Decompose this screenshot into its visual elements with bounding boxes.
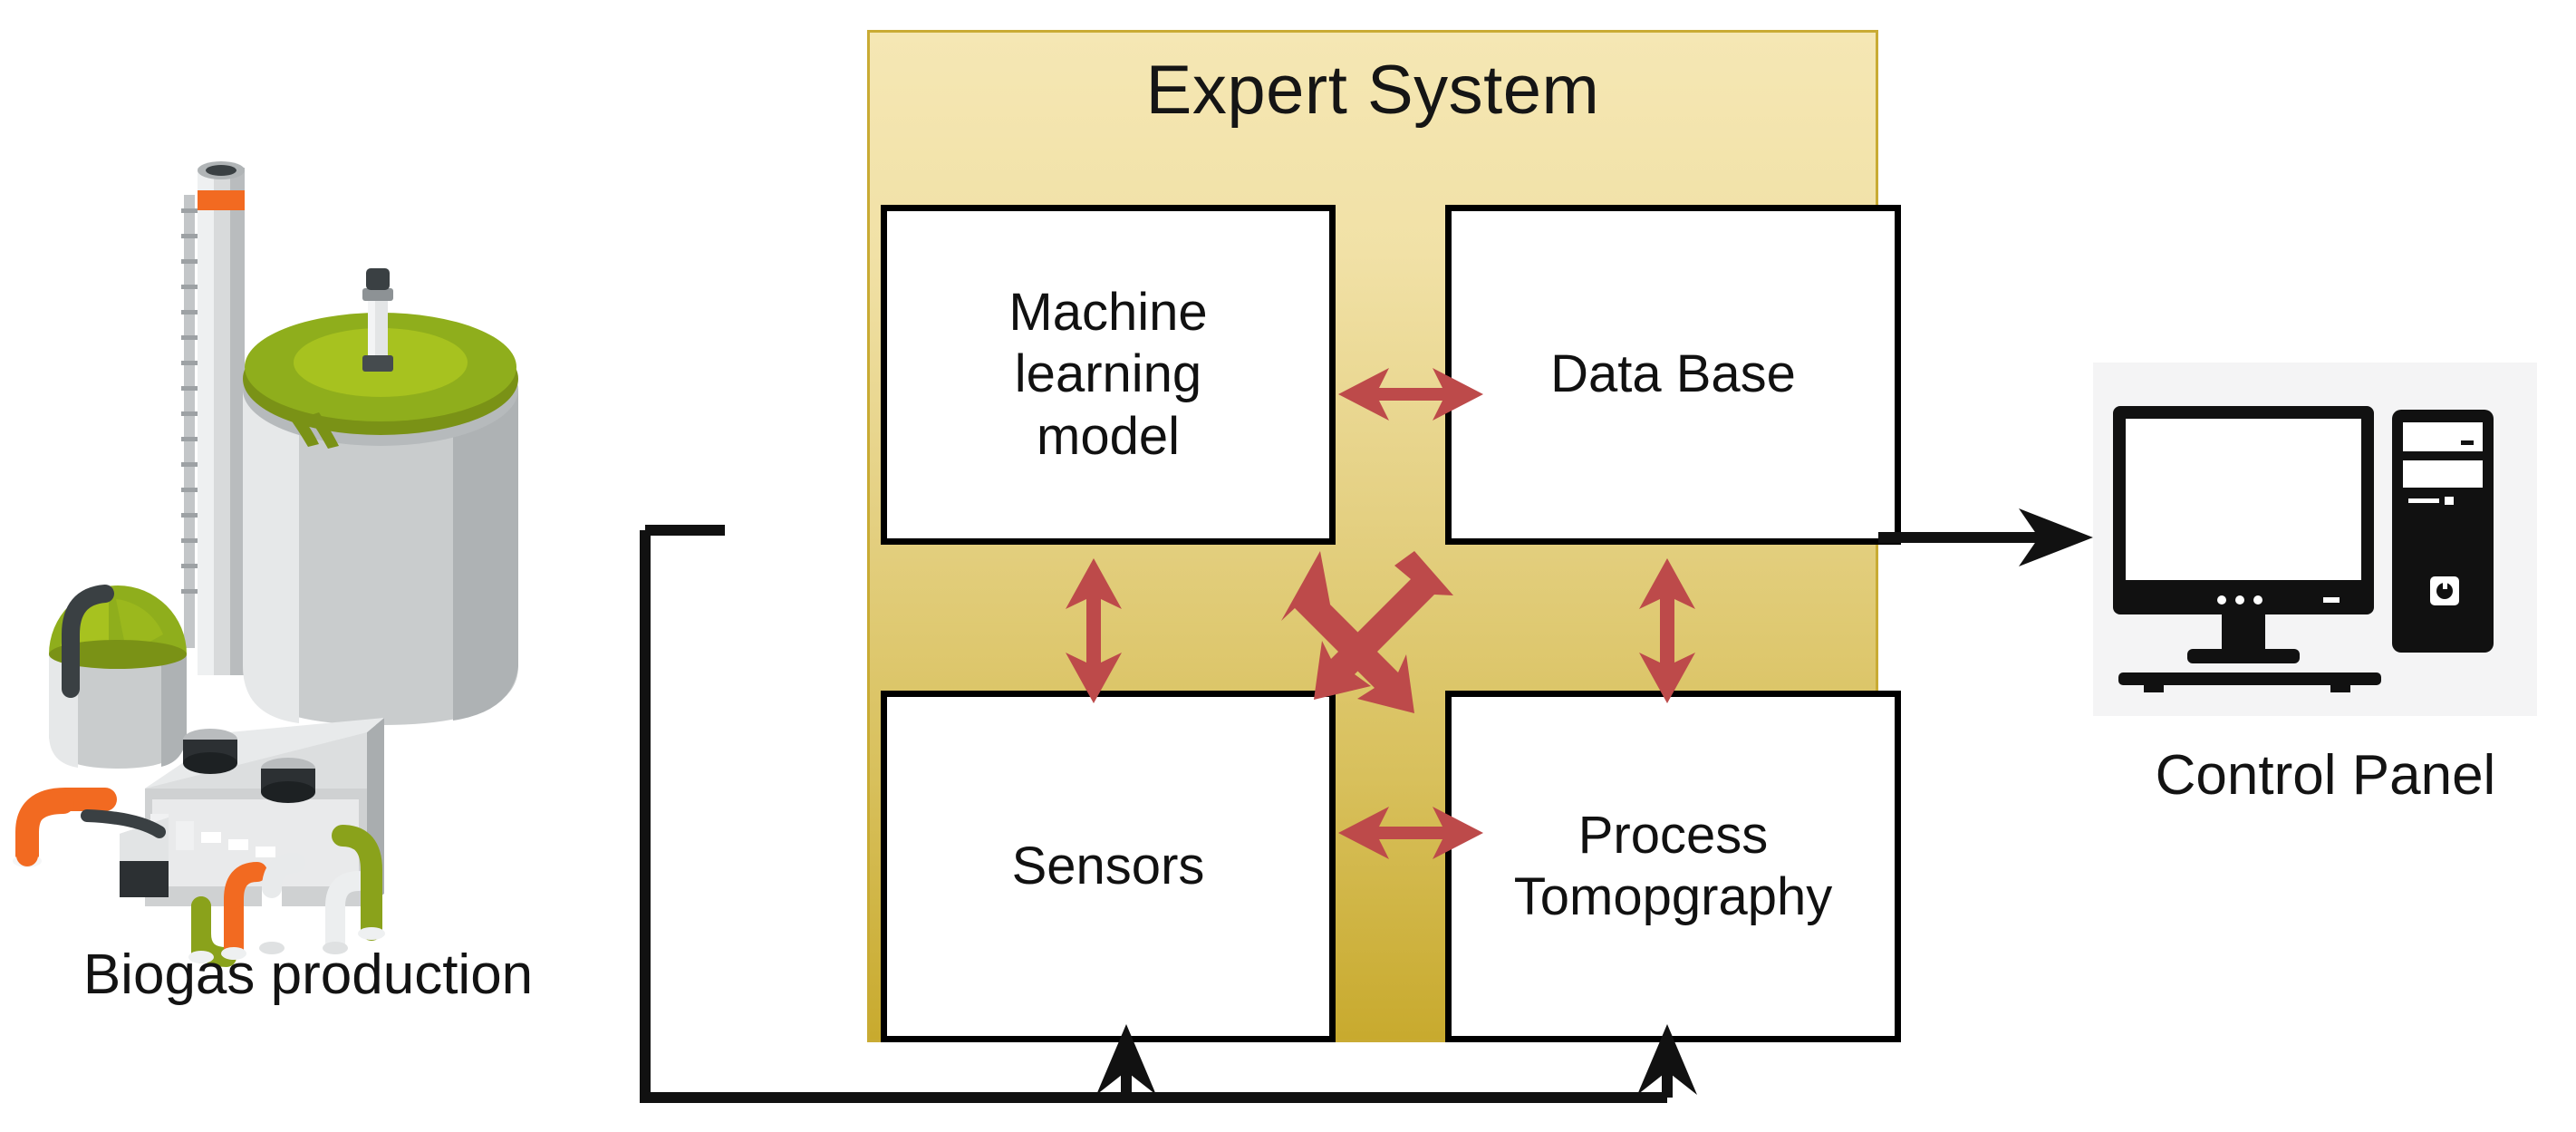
diagram-canvas: Expert System Machine learning model Dat… — [0, 0, 2576, 1132]
biogas-production-label: Biogas production — [9, 943, 607, 1007]
arrow-database-to-process-tomography — [1639, 558, 1695, 703]
arrow-up-process-tomography — [1637, 1024, 1697, 1098]
flow-biogas-to-expert-system — [645, 530, 1697, 1098]
arrow-sensors-to-process-tomography — [1338, 807, 1483, 859]
monitor — [2113, 406, 2374, 663]
control-panel-label: Control Panel — [2075, 743, 2576, 808]
arrow-cross-diagonal-x — [1281, 551, 1453, 713]
arrow-ml-to-database — [1338, 368, 1483, 421]
arrow-up-sensors — [1096, 1024, 1156, 1098]
desktop-computer-icon — [2093, 363, 2537, 716]
arrow-ml-to-sensors — [1066, 558, 1122, 703]
computer-tower — [2392, 410, 2494, 653]
keyboard — [2118, 672, 2381, 692]
flow-expert-system-to-control-panel — [1878, 508, 2093, 566]
